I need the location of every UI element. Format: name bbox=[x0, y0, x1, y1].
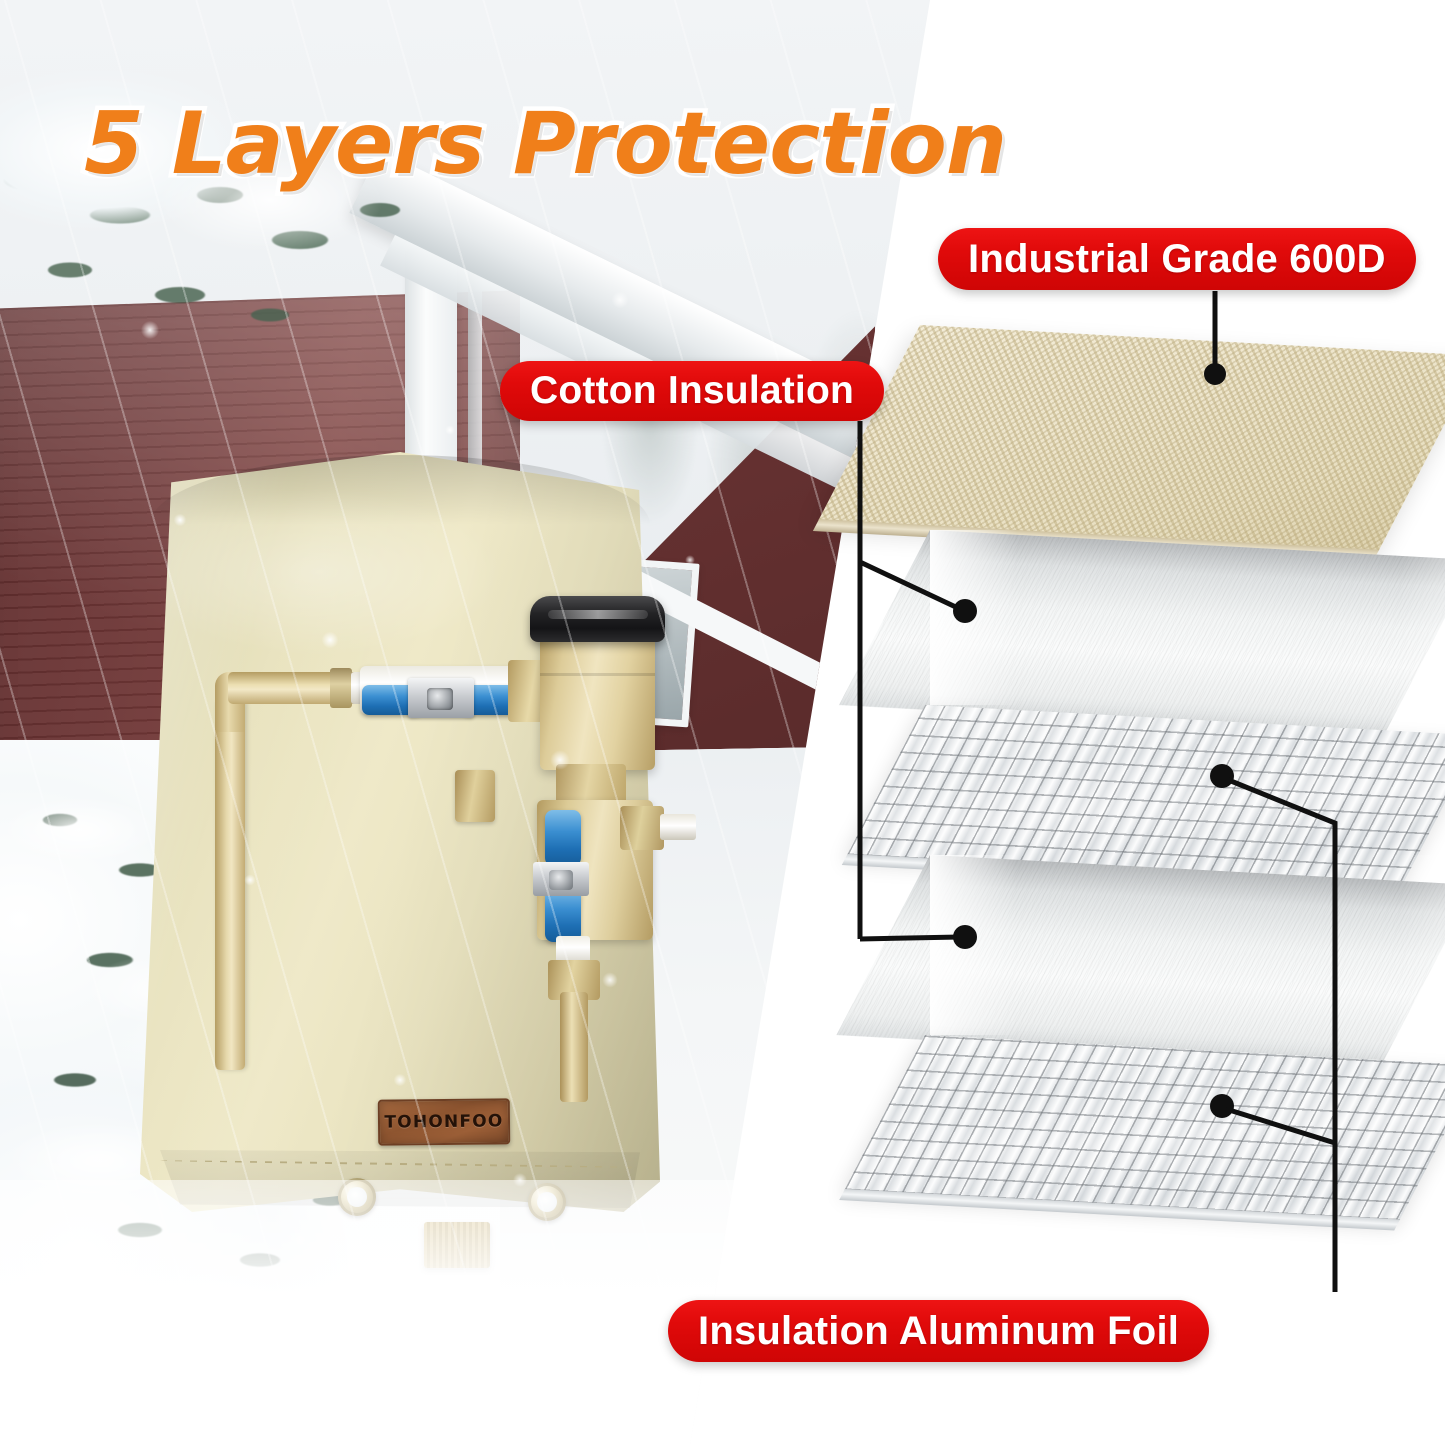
layer-4-cotton-insulation bbox=[930, 855, 1445, 1035]
layer-5-insulation-aluminum-foil bbox=[925, 1035, 1445, 1190]
fabric-600d-surface bbox=[819, 325, 1445, 551]
winter-product-photo: TOHONFOO bbox=[0, 0, 1010, 1445]
cotton-batting-surface-lower bbox=[836, 855, 1445, 1065]
infographic-canvas: TOHONFOO bbox=[0, 0, 1445, 1445]
foil-mesh-surface-lower bbox=[844, 1035, 1445, 1221]
label-text-aluminum-foil: Insulation Aluminum Foil bbox=[698, 1309, 1179, 1354]
label-industrial-grade-600d: Industrial Grade 600D bbox=[938, 228, 1416, 290]
page-title: 5 Layers Protection bbox=[84, 101, 1006, 187]
layer-3-insulation-aluminum-foil bbox=[925, 705, 1445, 855]
label-text-industrial-grade: Industrial Grade 600D bbox=[968, 237, 1386, 282]
label-insulation-aluminum-foil: Insulation Aluminum Foil bbox=[668, 1300, 1209, 1362]
label-cotton-insulation: Cotton Insulation bbox=[500, 361, 884, 421]
layer-1-industrial-grade-600d bbox=[920, 325, 1445, 520]
layer-2-cotton-insulation bbox=[930, 530, 1445, 705]
layer-stack-diagram bbox=[900, 300, 1445, 1300]
label-text-cotton-insulation: Cotton Insulation bbox=[530, 369, 854, 413]
